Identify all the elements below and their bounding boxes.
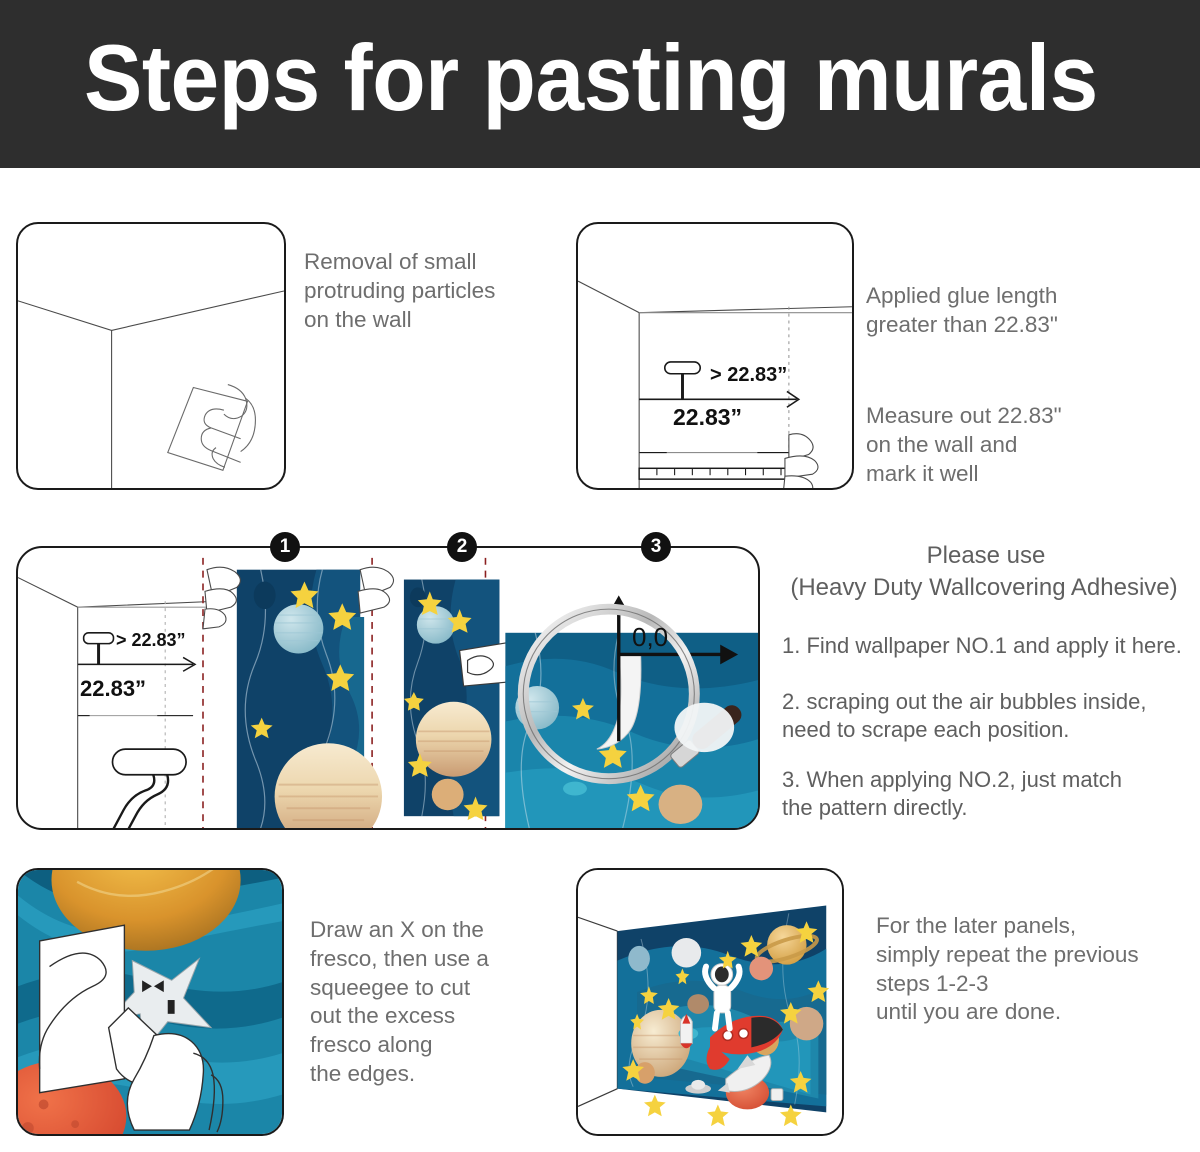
instructions-adhesive: (Heavy Duty Wallcovering Adhesive) [772, 572, 1196, 603]
instruction-item-1: 1. Find wallpaper NO.1 and apply it here… [782, 632, 1182, 660]
hand-holding-tape-icon [783, 434, 818, 488]
glue-measure-diagram [578, 224, 852, 488]
wall-measure-label: 22.83” [673, 404, 742, 431]
tape-measure-icon [639, 468, 789, 479]
step-badge-2: 2 [447, 532, 477, 562]
step-badge-1: 1 [270, 532, 300, 562]
planet-blue-icon [628, 946, 650, 972]
step-badge-3: 3 [641, 532, 671, 562]
planet-small-icon [432, 779, 464, 811]
switch-plate-icon [771, 1089, 783, 1101]
planet-brown-icon [687, 994, 709, 1014]
glue-length-label: > 22.83” [710, 364, 787, 387]
glue-roller-icon [665, 362, 700, 399]
glue-roller-icon [84, 633, 114, 665]
fresco-sheet [40, 925, 125, 1092]
planet-icy-icon [274, 604, 324, 653]
pond-shape [563, 782, 587, 796]
instruction-item-2: 2. scraping out the air bubbles inside, … [782, 688, 1182, 743]
instruction-item-3: 3. When applying NO.2, just match the pa… [782, 766, 1182, 821]
page-header: Steps for pasting murals [0, 0, 1200, 168]
paint-roller-icon [106, 749, 187, 828]
scraper-hand-icon [460, 643, 508, 686]
caption-apply-glue: Applied glue length greater than 22.83" [866, 282, 1166, 340]
planet-sand-icon [659, 785, 703, 824]
caption-cut-excess: Draw an X on the fresco, then use a sque… [310, 916, 570, 1089]
panel-repeat-panels [576, 868, 844, 1136]
small-rocket-icon [680, 1014, 692, 1048]
mural-panel-2 [404, 580, 507, 821]
hand-peel-icon [203, 567, 240, 629]
panel-glue-measure: > 22.83” 22.83” [576, 222, 854, 490]
caption-repeat-panels: For the later panels, simply repeat the … [876, 912, 1200, 1027]
panel-application-strip: > 22.83” 22.83” 0,0 [16, 546, 760, 830]
caption-prep-wall: Removal of small protruding particles on… [304, 248, 564, 334]
planet-pink-icon [749, 957, 773, 981]
wall-corner-diagram [18, 224, 284, 488]
caption-measure-wall: Measure out 22.83" on the wall and mark … [866, 402, 1166, 488]
wall-measure-label: 22.83” [80, 676, 146, 702]
panel-cut-excess [16, 868, 284, 1136]
page-title: Steps for pasting murals [84, 26, 1098, 129]
squeegee-cut-diagram [18, 870, 282, 1134]
mural-panel-1 [203, 567, 394, 828]
planet-moon-icon [672, 938, 702, 968]
finished-mural-diagram [578, 870, 842, 1134]
glue-arrow-icon [78, 657, 195, 671]
hand-peel-icon [358, 567, 393, 613]
origin-label: 0,0 [632, 622, 668, 653]
glue-length-label: > 22.83” [116, 630, 186, 651]
instructions-heading: Please use [790, 540, 1182, 571]
panel-prep-wall [16, 222, 286, 490]
